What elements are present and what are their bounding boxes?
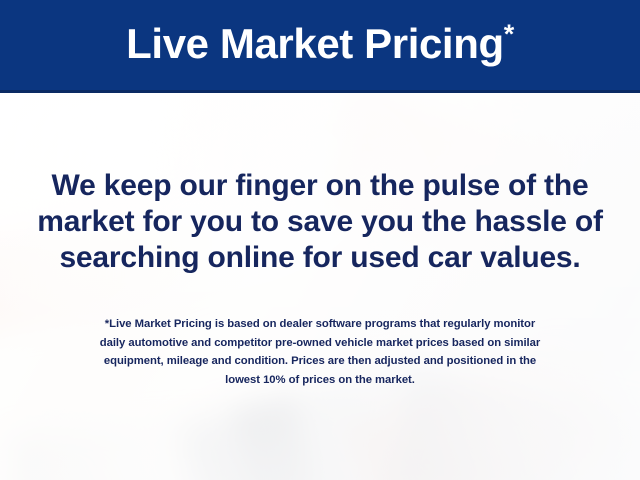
page-title: Live Market Pricing* bbox=[126, 23, 514, 68]
headline-text: We keep our finger on the pulse of the m… bbox=[0, 168, 640, 276]
headline-line-2: market for you to save you the hassle of bbox=[0, 204, 640, 240]
disclaimer-text: *Live Market Pricing is based on dealer … bbox=[26, 315, 614, 389]
live-market-pricing-banner: Live Market Pricing* We keep our finger … bbox=[0, 0, 640, 480]
disclaimer-line-1: *Live Market Pricing is based on dealer … bbox=[26, 315, 614, 334]
disclaimer-line-4: lowest 10% of prices on the market. bbox=[26, 371, 614, 390]
headline-line-3: searching online for used car values. bbox=[0, 240, 640, 276]
disclaimer-line-2: daily automotive and competitor pre-owne… bbox=[26, 334, 614, 353]
header-banner: Live Market Pricing* bbox=[0, 0, 640, 93]
disclaimer-line-3: equipment, mileage and condition. Prices… bbox=[26, 352, 614, 371]
page-title-asterisk: * bbox=[504, 19, 514, 49]
page-title-text: Live Market Pricing bbox=[126, 20, 504, 67]
headline-line-1: We keep our finger on the pulse of the bbox=[0, 168, 640, 204]
